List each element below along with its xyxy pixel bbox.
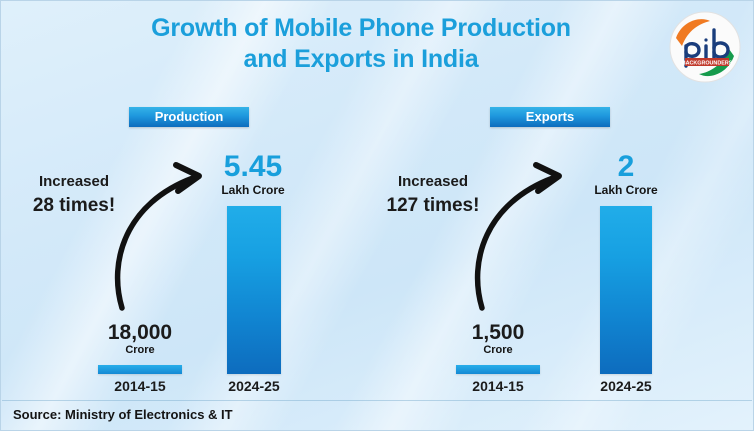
start-value-production: 18,000 Crore	[80, 321, 200, 356]
end-value-exports: 2 Lakh Crore	[571, 151, 681, 197]
bar-production-2024-25	[227, 206, 281, 374]
end-value-number-production: 5.45	[198, 151, 308, 182]
page-title-line-2: and Exports in India	[61, 44, 661, 75]
start-value-unit-production: Crore	[80, 344, 200, 356]
curved-arrow-icon-exports	[456, 151, 586, 321]
year-label-production-2024-25: 2024-25	[194, 378, 314, 394]
start-value-unit-exports: Crore	[438, 344, 558, 356]
infographic-canvas: Growth of Mobile Phone Production and Ex…	[0, 0, 754, 431]
bar-exports-2014-15	[456, 365, 540, 374]
year-label-production-2014-15: 2014-15	[80, 378, 200, 394]
end-value-unit-exports: Lakh Crore	[571, 183, 681, 197]
start-value-number-production: 18,000	[80, 321, 200, 344]
end-value-production: 5.45 Lakh Crore	[198, 151, 308, 197]
end-value-number-exports: 2	[571, 151, 681, 182]
section-badge-exports: Exports	[490, 107, 610, 127]
page-title: Growth of Mobile Phone Production and Ex…	[61, 13, 661, 75]
pib-backgrounders-logo: BACKGROUNDERS	[666, 8, 744, 86]
footer-divider	[2, 400, 752, 401]
start-value-exports: 1,500 Crore	[438, 321, 558, 356]
source-text: Source: Ministry of Electronics & IT	[13, 407, 233, 422]
logo-banner-text: BACKGROUNDERS	[682, 60, 733, 66]
year-label-exports-2024-25: 2024-25	[566, 378, 686, 394]
section-badge-production: Production	[129, 107, 249, 127]
start-value-number-exports: 1,500	[438, 321, 558, 344]
bar-exports-2024-25	[600, 206, 652, 374]
end-value-unit-production: Lakh Crore	[198, 183, 308, 197]
page-title-line-1: Growth of Mobile Phone Production	[151, 14, 571, 42]
year-label-exports-2014-15: 2014-15	[438, 378, 558, 394]
bar-production-2014-15	[98, 365, 182, 374]
